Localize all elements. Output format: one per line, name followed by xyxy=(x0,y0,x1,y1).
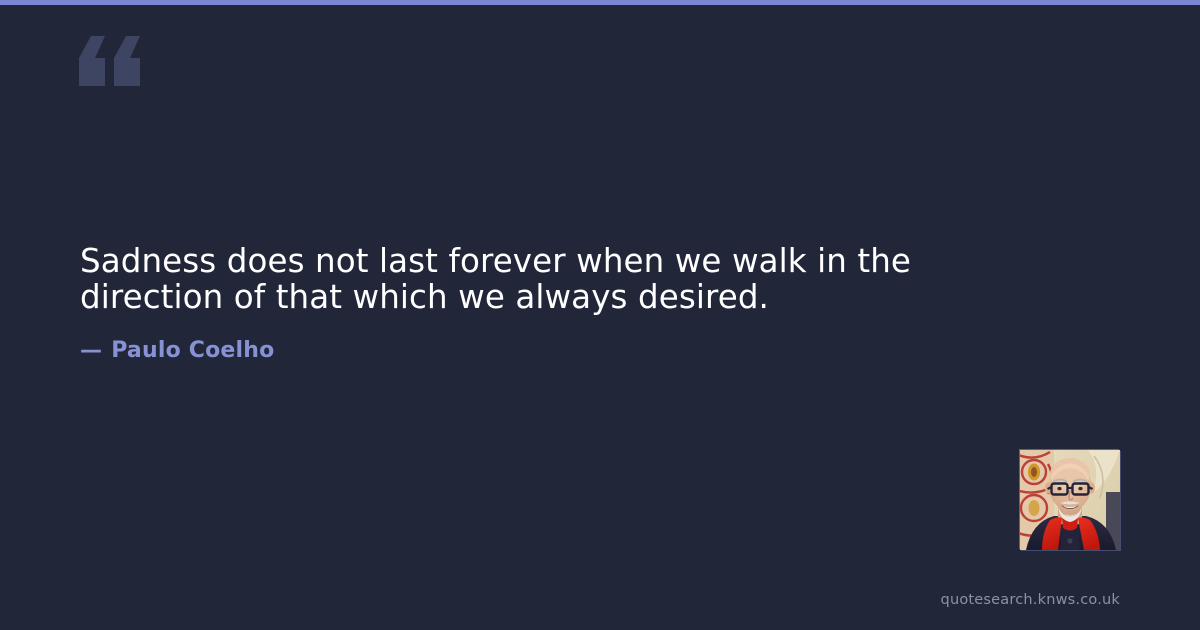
quote-card: Sadness does not last forever when we wa… xyxy=(0,0,1200,630)
author-attribution: — Paulo Coelho xyxy=(80,338,274,363)
top-accent-bar xyxy=(0,0,1200,5)
source-url[interactable]: quotesearch.knws.co.uk xyxy=(941,592,1120,608)
quote-block: Sadness does not last forever when we wa… xyxy=(80,243,920,315)
author-name: Paulo Coelho xyxy=(111,338,274,363)
attribution-dash: — xyxy=(80,338,102,363)
quote-text: Sadness does not last forever when we wa… xyxy=(80,243,920,315)
author-portrait-image xyxy=(1020,450,1120,550)
open-quotation-mark-icon xyxy=(79,36,141,86)
